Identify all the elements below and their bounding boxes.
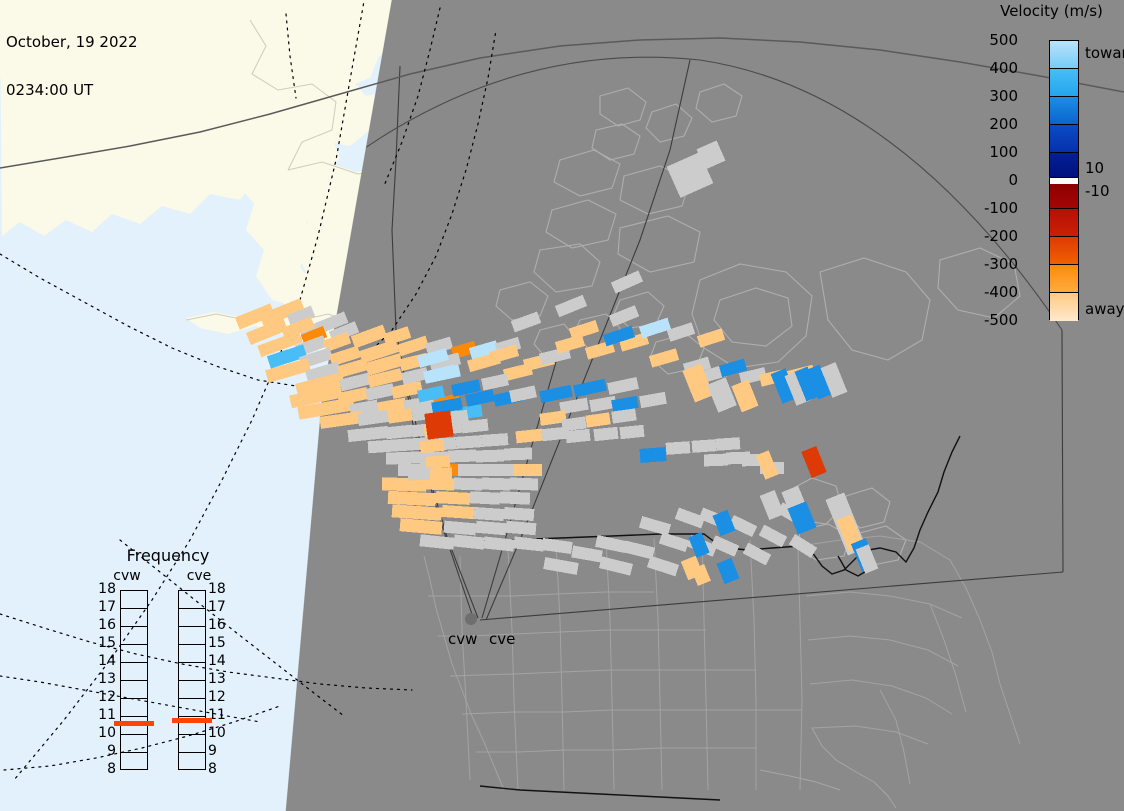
radar-label-cve: cve	[489, 630, 515, 648]
frequency-segment	[179, 699, 205, 717]
colorbar-tick--300: -300	[954, 255, 1018, 273]
velocity-cell	[436, 491, 471, 505]
velocity-cell	[430, 468, 452, 481]
frequency-bar-cve	[178, 590, 206, 770]
frequency-tick-cvw-15: 15	[94, 635, 116, 651]
velocity-cell	[442, 505, 475, 519]
frequency-segment	[121, 663, 147, 681]
frequency-tick-cvw-12: 12	[94, 689, 116, 705]
frequency-column-cve: cve 18171615141312111098	[166, 568, 232, 790]
radar-label-cvw: cvw	[448, 630, 477, 648]
colorbar-band--200-to--300	[1050, 237, 1078, 265]
frequency-segment	[121, 735, 147, 753]
colorbar-band-200-to-100	[1050, 125, 1078, 153]
frequency-column-cvw: cvw 18171615141312111098	[94, 568, 160, 790]
frequency-tick-cve-17: 17	[208, 599, 230, 615]
frequency-tick-cvw-14: 14	[94, 653, 116, 669]
frequency-tick-cve-14: 14	[208, 653, 230, 669]
colorbar-toward-label: toward	[1085, 44, 1124, 62]
colorbar-inner-bottom-label: -10	[1085, 182, 1110, 200]
timestamp-time: 0234:00 UT	[6, 82, 138, 98]
frequency-tick-cvw-18: 18	[94, 581, 116, 597]
timestamp-date: October, 19 2022	[6, 34, 138, 50]
velocity-cell	[692, 439, 717, 453]
velocity-cell	[476, 450, 504, 463]
frequency-tick-cve-18: 18	[208, 581, 230, 597]
velocity-cell	[593, 427, 618, 441]
frequency-tick-cve-13: 13	[208, 671, 230, 687]
velocity-cell	[510, 478, 538, 491]
velocity-cell	[716, 437, 741, 451]
frequency-tick-cvw-16: 16	[94, 617, 116, 633]
velocity-cell	[504, 448, 532, 461]
colorbar-tick--400: -400	[954, 283, 1018, 301]
velocity-cell	[456, 435, 483, 449]
colorbar-tick-500: 500	[954, 31, 1018, 49]
velocity-cell	[541, 427, 566, 441]
velocity-cell	[419, 439, 444, 453]
velocity-cell	[474, 507, 505, 521]
frequency-segment	[121, 645, 147, 663]
colorbar-inner-top-label: 10	[1085, 159, 1104, 177]
colorbar-tick--100: -100	[954, 199, 1018, 217]
frequency-segment	[179, 735, 205, 753]
frequency-tick-cve-9: 9	[208, 743, 230, 759]
frequency-tick-cvw-8: 8	[94, 761, 116, 777]
velocity-cell	[470, 491, 501, 505]
colorbar-band--400-to--500	[1050, 293, 1078, 321]
velocity-cell	[704, 454, 728, 467]
frequency-tick-cve-8: 8	[208, 761, 230, 777]
velocity-cell	[486, 464, 514, 476]
colorbar-tick-400: 400	[954, 59, 1018, 77]
velocity-cell	[388, 491, 437, 506]
colorbar-band-500-to-400	[1050, 41, 1078, 69]
frequency-segment	[121, 609, 147, 627]
radar-site-marker	[465, 613, 477, 625]
colorbar-band--300-to--400	[1050, 265, 1078, 293]
colorbar-title: Velocity (m/s)	[979, 2, 1124, 20]
frequency-tick-cve-10: 10	[208, 725, 230, 741]
frequency-segment	[179, 753, 205, 771]
velocity-cell	[454, 478, 482, 491]
frequency-segment	[179, 681, 205, 699]
frequency-tick-cve-12: 12	[208, 689, 230, 705]
frequency-segment	[179, 627, 205, 645]
velocity-cell	[424, 410, 453, 439]
frequency-marker-cvw	[114, 721, 154, 726]
velocity-cell	[482, 433, 509, 447]
frequency-segment	[121, 699, 147, 717]
velocity-cell	[565, 429, 590, 443]
velocity-colorbar-panel: Velocity (m/s) 5004003002001000-100-200-…	[975, 0, 1124, 340]
velocity-cell	[482, 478, 510, 491]
frequency-tick-cvw-10: 10	[94, 725, 116, 741]
fan-plot-canvas: October, 19 2022 0234:00 UT Velocity (m/…	[0, 0, 1124, 811]
frequency-tick-cvw-13: 13	[94, 671, 116, 687]
colorbar-tick--500: -500	[954, 311, 1018, 329]
frequency-tick-cve-15: 15	[208, 635, 230, 651]
velocity-cell	[619, 425, 644, 439]
velocity-cell	[458, 464, 486, 476]
frequency-legend-title: Frequency	[88, 546, 248, 565]
frequency-tick-cve-16: 16	[208, 617, 230, 633]
colorbar-band-100-to-10	[1050, 153, 1078, 178]
frequency-segment	[179, 591, 205, 609]
frequency-tick-cvw-11: 11	[94, 707, 116, 723]
colorbar-band-400-to-300	[1050, 69, 1078, 97]
frequency-bar-cvw	[120, 590, 148, 770]
frequency-legend-panel: Frequency cvw 18171615141312111098 cve 1…	[88, 546, 248, 792]
colorbar-tick-0: 0	[954, 171, 1018, 189]
velocity-cell	[504, 507, 535, 521]
timestamp: October, 19 2022 0234:00 UT	[6, 2, 138, 130]
colorbar-band--10-to--100	[1050, 184, 1078, 209]
colorbar-tick-100: 100	[954, 143, 1018, 161]
frequency-segment	[121, 627, 147, 645]
frequency-segment	[121, 753, 147, 771]
frequency-segment	[179, 609, 205, 627]
colorbar-tick-200: 200	[954, 115, 1018, 133]
frequency-marker-cve	[172, 718, 212, 723]
frequency-segment	[121, 681, 147, 699]
velocity-cell	[514, 464, 542, 476]
frequency-segment	[179, 645, 205, 663]
colorbar-gradient	[1049, 40, 1079, 320]
frequency-tick-cvw-17: 17	[94, 599, 116, 615]
velocity-cell	[426, 455, 451, 469]
colorbar-band-300-to-200	[1050, 97, 1078, 125]
velocity-cell	[666, 441, 691, 455]
frequency-tick-cvw-9: 9	[94, 743, 116, 759]
velocity-cell	[386, 451, 422, 464]
frequency-segment	[179, 663, 205, 681]
frequency-segment	[121, 591, 147, 609]
velocity-cell	[448, 450, 476, 463]
velocity-cell	[640, 447, 667, 463]
colorbar-tick-300: 300	[954, 87, 1018, 105]
colorbar-band--100-to--200	[1050, 209, 1078, 237]
velocity-cell	[500, 491, 531, 505]
colorbar-tick--200: -200	[954, 227, 1018, 245]
colorbar-away-label: away	[1085, 300, 1124, 318]
